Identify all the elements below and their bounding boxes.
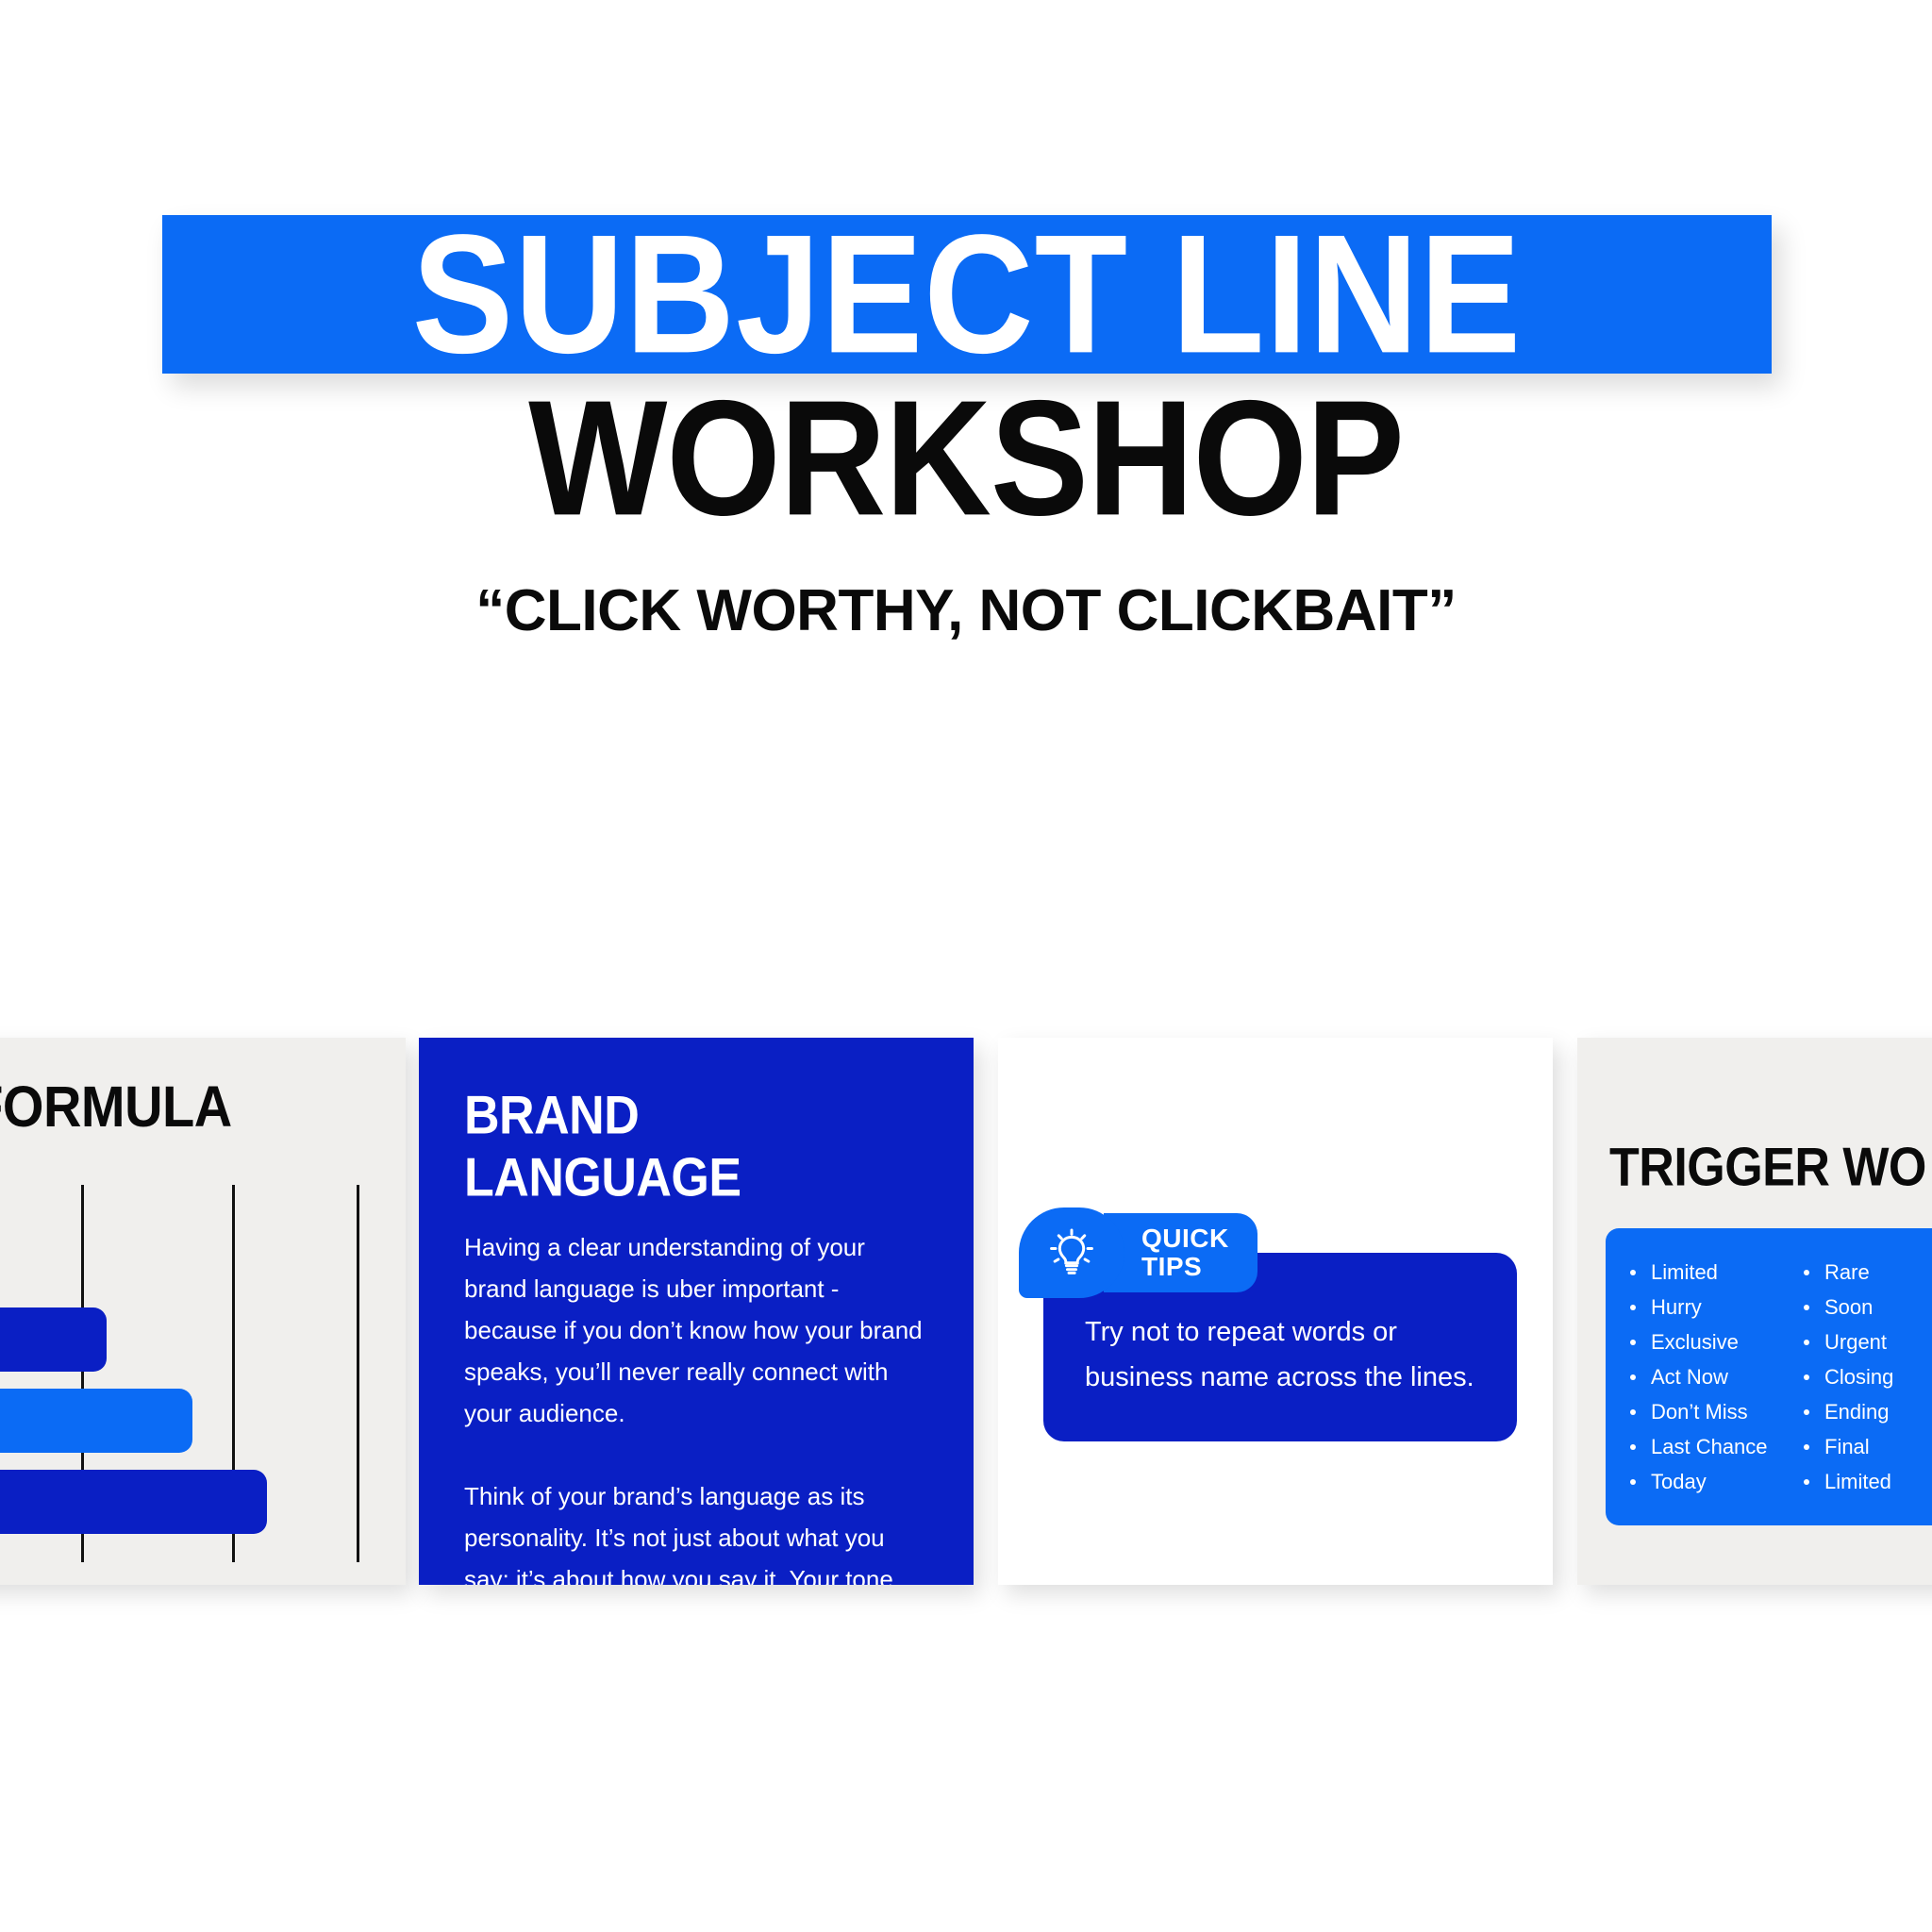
list-item: Don’t Miss — [1623, 1394, 1783, 1429]
list-item: Today — [1623, 1464, 1783, 1499]
list-item: Closing — [1796, 1359, 1932, 1394]
card-brand-title-line1: BRAND — [464, 1085, 928, 1147]
card-brand-title-line2: LANGUAGE — [464, 1147, 928, 1209]
quick-tips-label-line1: QUICK — [1141, 1224, 1229, 1253]
card-brand-paragraph-1: Having a clear understanding of your bra… — [464, 1226, 928, 1434]
card-brand-language[interactable]: BRAND LANGUAGE Having a clear understand… — [419, 1038, 974, 1585]
quick-tips-label-line2: TIPS — [1141, 1253, 1229, 1281]
trigger-words-column: Rare Soon Urgent Closing Ending Final Li… — [1796, 1255, 1932, 1499]
chart-bar — [0, 1389, 192, 1453]
card-brand-title: BRAND LANGUAGE — [464, 1085, 928, 1209]
lightbulb-icon — [1019, 1207, 1124, 1298]
header: SUBJECT LINE WORKSHOP “CLICK WORTHY, NOT… — [0, 0, 1932, 717]
card-formula-title: M FORMULA — [0, 1076, 370, 1137]
list-item: Hurry — [1623, 1290, 1783, 1324]
list-item: Ending — [1796, 1394, 1932, 1429]
chart-bar — [0, 1307, 107, 1372]
trigger-words-panel: Limited Hurry Exclusive Act Now Don’t Mi… — [1606, 1228, 1932, 1525]
quick-tips-body: Try not to repeat words or business name… — [1085, 1309, 1475, 1400]
subtitle-text: WORKSHOP — [528, 375, 1404, 540]
list-item: Urgent — [1796, 1324, 1932, 1359]
quick-tips-badge: QUICK TIPS — [1019, 1207, 1257, 1298]
card-formula[interactable]: M FORMULA — [0, 1038, 406, 1585]
card-carousel: M FORMULA BRAND LANGUAGE Having a — [0, 1038, 1932, 1594]
list-item: Final — [1796, 1429, 1932, 1464]
quick-tips-label: QUICK TIPS — [1104, 1213, 1257, 1292]
list-item: Act Now — [1623, 1359, 1783, 1394]
tagline: “CLICK WORTHY, NOT CLICKBAIT” — [0, 578, 1932, 644]
card-quick-tips[interactable]: QUICK TIPS Try not to repeat words or bu… — [998, 1038, 1553, 1585]
chart-bars — [0, 1226, 370, 1551]
list-item: Exclusive — [1623, 1324, 1783, 1359]
list-item: Last Chance — [1623, 1429, 1783, 1464]
list-item: Limited — [1796, 1464, 1932, 1499]
trigger-words-column: Limited Hurry Exclusive Act Now Don’t Mi… — [1623, 1255, 1783, 1499]
horizontal-bar-chart — [0, 1185, 370, 1562]
list-item: Soon — [1796, 1290, 1932, 1324]
list-item: Rare — [1796, 1255, 1932, 1290]
page-title-subtitle: WORKSHOP — [0, 387, 1932, 528]
card-trigger-title: TRIGGER WO — [1577, 1139, 1932, 1197]
slide-canvas: SUBJECT LINE WORKSHOP “CLICK WORTHY, NOT… — [0, 0, 1932, 1932]
card-brand-paragraph-2: Think of your brand’s language as its pe… — [464, 1475, 928, 1585]
title-banner: SUBJECT LINE — [162, 215, 1772, 374]
list-item: Limited — [1623, 1255, 1783, 1290]
card-trigger-words[interactable]: TRIGGER WO Limited Hurry Exclusive Act N… — [1577, 1038, 1932, 1585]
banner-title: SUBJECT LINE — [412, 211, 1523, 378]
chart-bar — [0, 1470, 267, 1534]
